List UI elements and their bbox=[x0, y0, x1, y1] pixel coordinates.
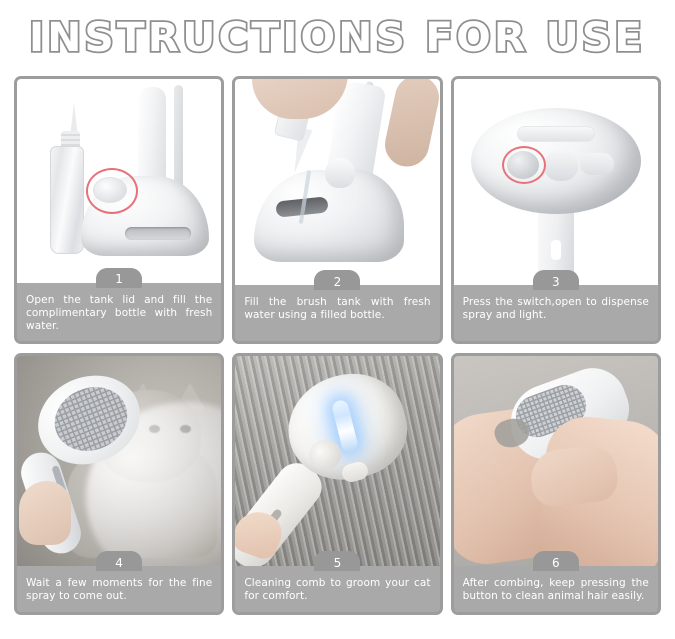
hand-shape bbox=[252, 79, 348, 119]
step-1-caption-text: Open the tank lid and fill the complimen… bbox=[26, 294, 212, 332]
step-5-art bbox=[235, 356, 439, 566]
instructions-infographic: INSTRUCTIONS FOR USE 1 Open bbox=[0, 0, 675, 639]
step-2-art bbox=[235, 79, 439, 285]
step-number-badge: 3 bbox=[533, 270, 579, 290]
step-panel-4: 4 Wait a few moments for the fine spray … bbox=[14, 353, 224, 615]
brush-top-slot-shape bbox=[517, 126, 595, 142]
step-1-art bbox=[17, 79, 221, 283]
step-5-caption: 5 Cleaning comb to groom your cat for co… bbox=[235, 566, 439, 612]
page-title: INSTRUCTIONS FOR USE bbox=[29, 15, 645, 61]
step-2-illustration bbox=[235, 79, 439, 285]
step-6-art bbox=[454, 356, 658, 566]
step-5-caption-text: Cleaning comb to groom your cat for comf… bbox=[244, 577, 430, 602]
bottle-body-shape bbox=[50, 146, 84, 254]
step-panel-1: 1 Open the tank lid and fill the complim… bbox=[14, 76, 224, 344]
step-panel-6: 6 After combing, keep pressing the butto… bbox=[451, 353, 661, 615]
step-1-illustration bbox=[17, 79, 221, 283]
step-3-caption-text: Press the switch,open to dispense spray … bbox=[463, 296, 649, 321]
highlight-ring-icon bbox=[502, 146, 546, 184]
forearm-shape bbox=[380, 79, 439, 170]
highlight-ring-icon bbox=[86, 168, 138, 214]
step-number-badge: 4 bbox=[96, 551, 142, 571]
step-number-badge: 2 bbox=[314, 270, 360, 290]
step-2-caption-text: Fill the brush tank with fresh water usi… bbox=[244, 296, 430, 321]
steps-grid: 1 Open the tank lid and fill the complim… bbox=[0, 76, 675, 615]
step-6-illustration bbox=[454, 356, 658, 566]
side-button-shape bbox=[580, 153, 614, 175]
step-number-badge: 5 bbox=[314, 551, 360, 571]
handle-notch-shape bbox=[551, 240, 561, 260]
brush-water-window-shape bbox=[125, 227, 191, 240]
hand-shape bbox=[19, 481, 71, 545]
step-1-caption: 1 Open the tank lid and fill the complim… bbox=[17, 283, 221, 341]
step-3-caption: 3 Press the switch,open to dispense spra… bbox=[454, 285, 658, 341]
step-panel-2: 2 Fill the brush tank with fresh water u… bbox=[232, 76, 442, 344]
step-number-badge: 1 bbox=[96, 268, 142, 288]
title-bar: INSTRUCTIONS FOR USE bbox=[0, 0, 675, 76]
step-4-caption: 4 Wait a few moments for the fine spray … bbox=[17, 566, 221, 612]
step-5-illustration bbox=[235, 356, 439, 566]
center-button-shape bbox=[544, 149, 578, 181]
step-6-caption: 6 After combing, keep pressing the butto… bbox=[454, 566, 658, 612]
step-4-art bbox=[17, 356, 221, 566]
step-6-caption-text: After combing, keep pressing the button … bbox=[463, 577, 649, 602]
step-2-caption: 2 Fill the brush tank with fresh water u… bbox=[235, 285, 439, 341]
step-panel-5: 5 Cleaning comb to groom your cat for co… bbox=[232, 353, 442, 615]
step-3-art bbox=[454, 79, 658, 285]
tank-cap-shape bbox=[325, 158, 355, 188]
step-number-badge: 6 bbox=[533, 551, 579, 571]
step-4-caption-text: Wait a few moments for the fine spray to… bbox=[26, 577, 212, 602]
step-panel-3: 3 Press the switch,open to dispense spra… bbox=[451, 76, 661, 344]
step-3-illustration bbox=[454, 79, 658, 285]
step-4-illustration bbox=[17, 356, 221, 566]
